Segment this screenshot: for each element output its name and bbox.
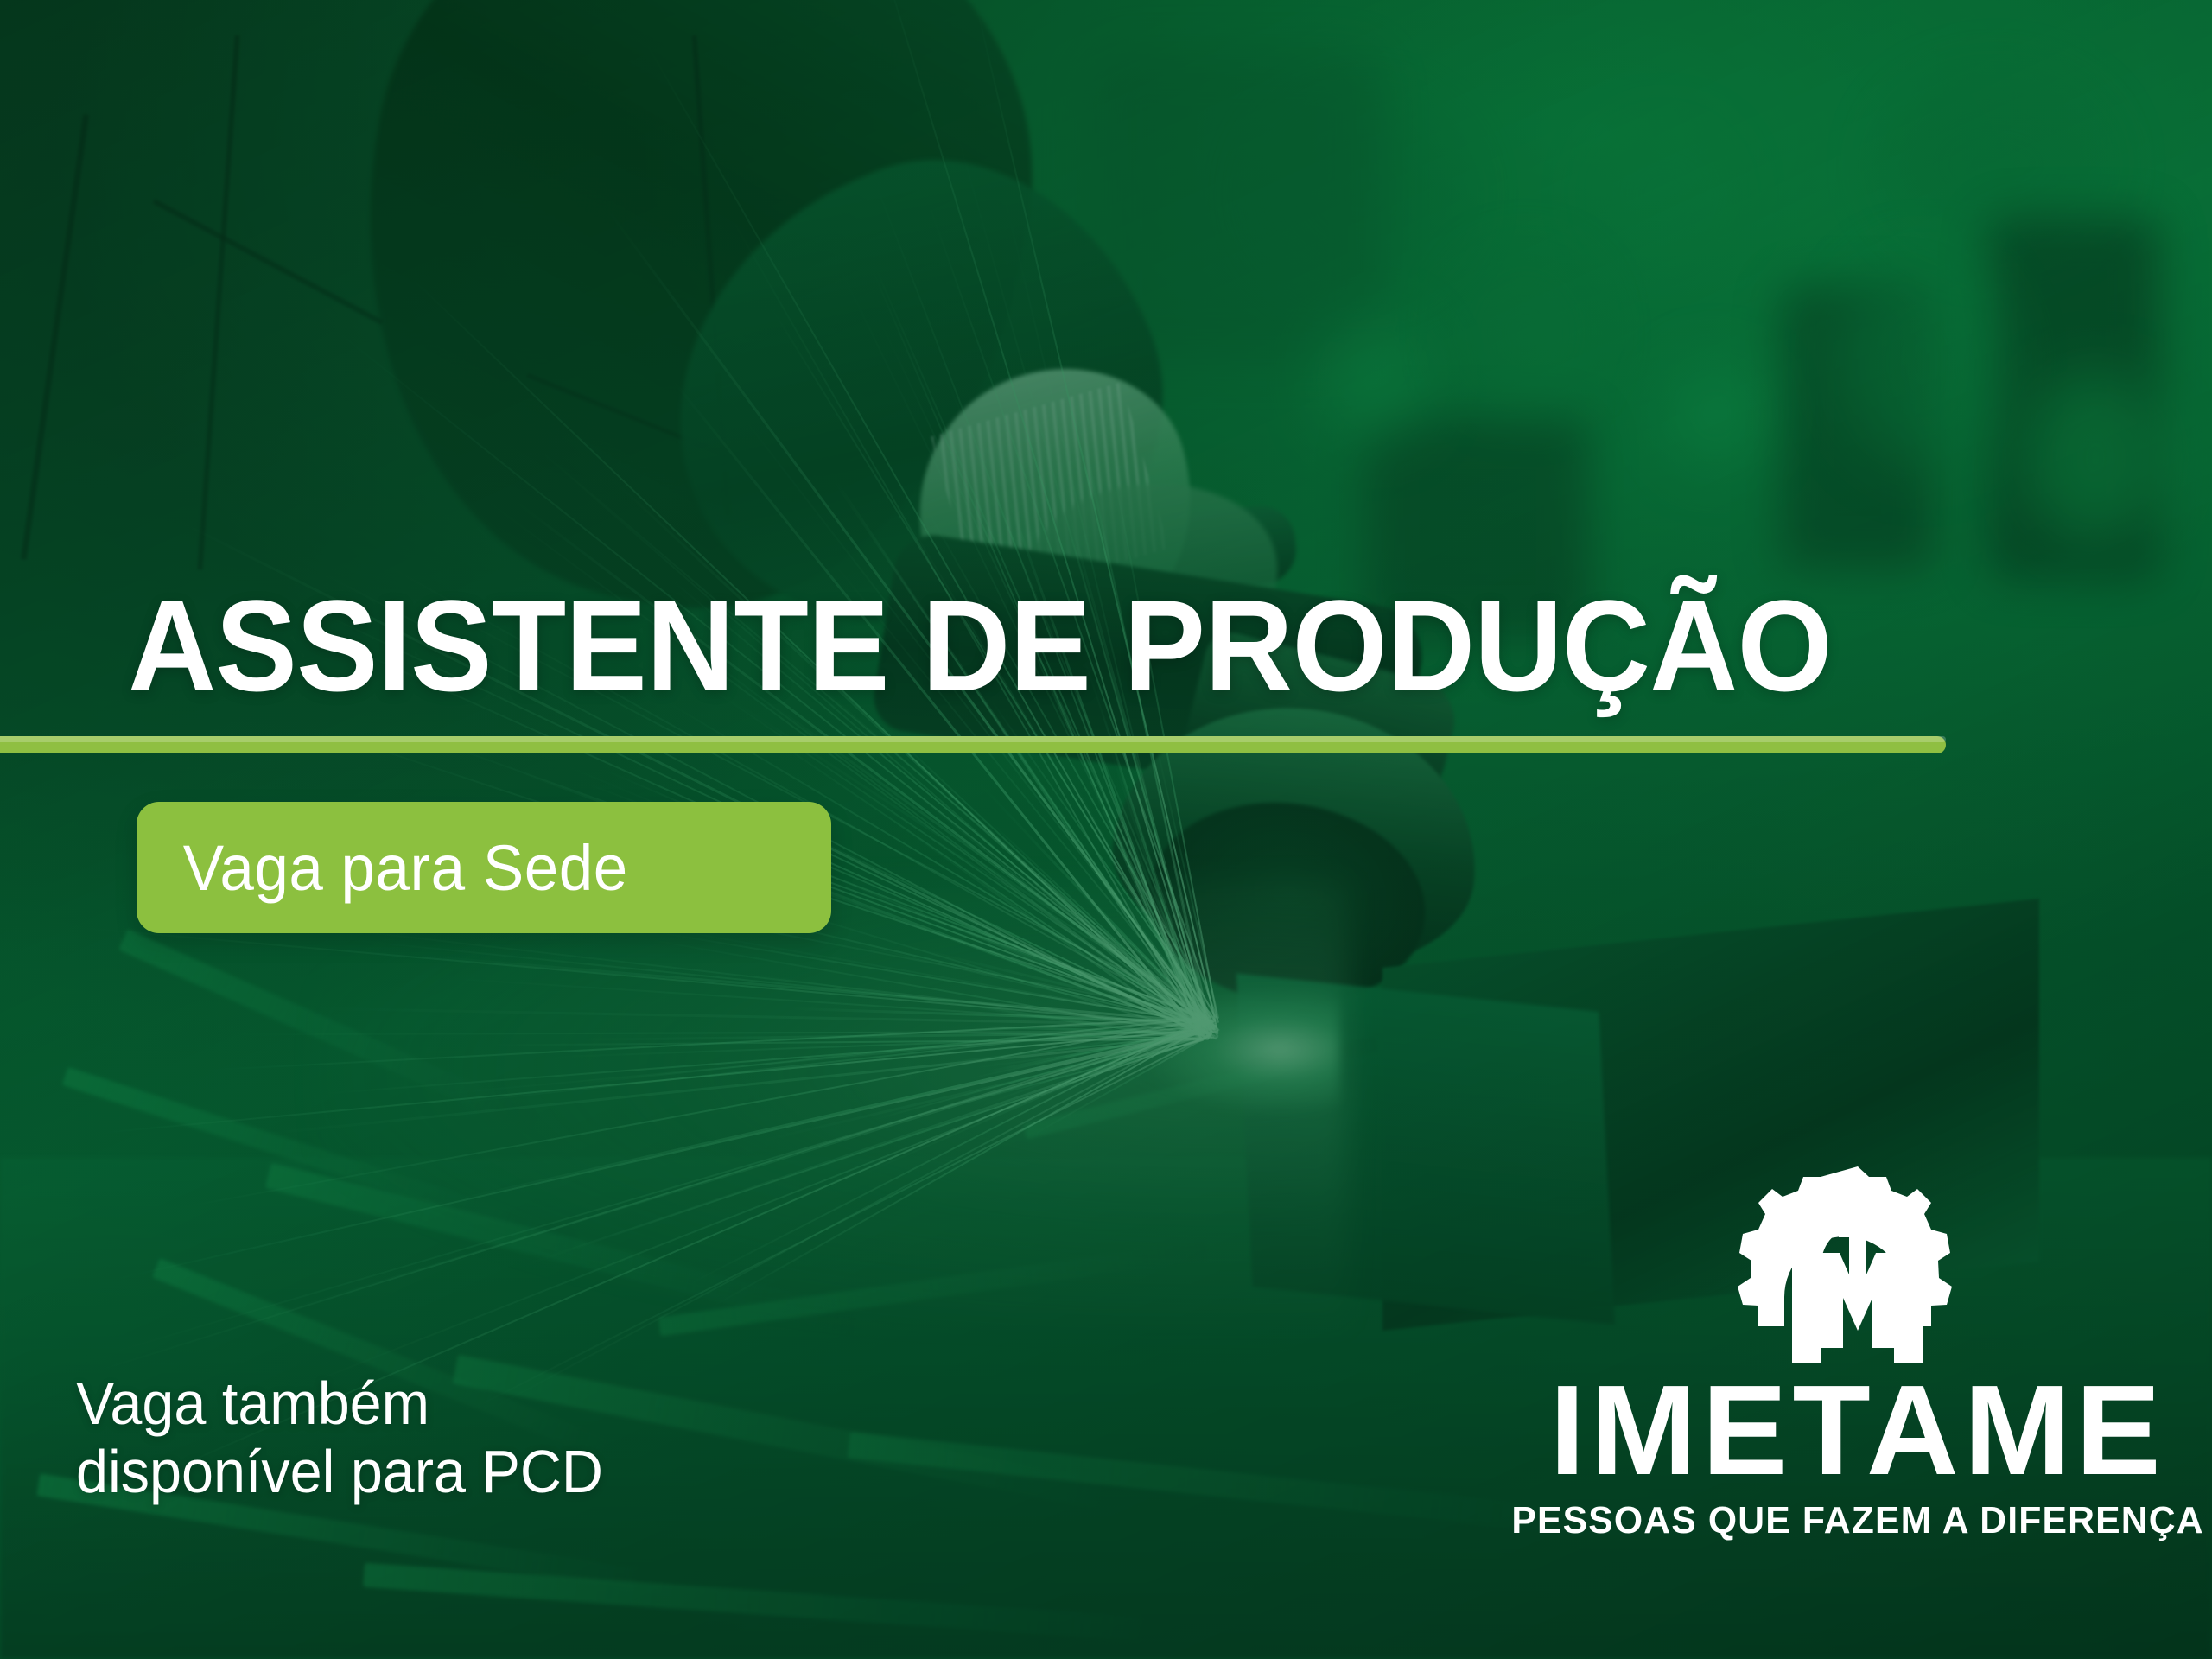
job-vacancy-banner: ASSISTENTE DE PRODUÇÃO Vaga para Sede Va…	[0, 0, 2212, 1659]
location-badge: Vaga para Sede	[137, 802, 831, 933]
logo-wordmark: IMETAME	[1549, 1370, 2165, 1491]
title-divider-rule	[0, 736, 1946, 753]
imetame-logo: IMETAME PESSOAS QUE FAZEM A DIFERENÇA	[1555, 1166, 2160, 1542]
pcd-availability-note: Vaga também disponível para PCD	[76, 1370, 603, 1506]
banner-content: ASSISTENTE DE PRODUÇÃO Vaga para Sede Va…	[0, 0, 2212, 1659]
location-badge-label: Vaga para Sede	[137, 831, 628, 905]
logo-tagline: PESSOAS QUE FAZEM A DIFERENÇA	[1511, 1499, 2203, 1542]
page-title: ASSISTENTE DE PRODUÇÃO	[128, 581, 1832, 710]
gear-arch-im-monogram-icon	[1726, 1166, 1990, 1363]
